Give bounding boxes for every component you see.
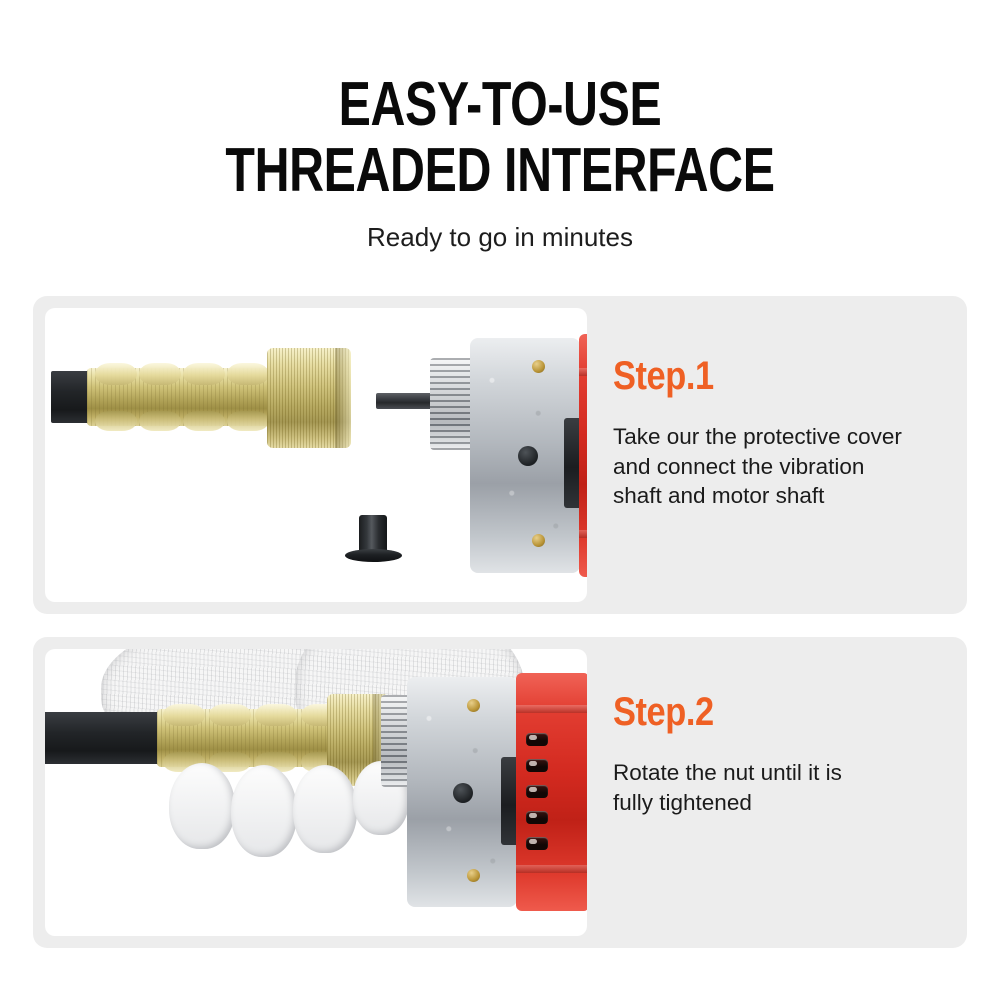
red-plastic-cover [579,334,587,577]
brass-flexible-shaft [157,709,339,767]
shaft-bump [95,363,137,385]
step-1-text-column: Step.1 Take our the protective cover and… [613,356,958,511]
step-1-body: Take our the protective cover and connec… [613,422,958,511]
step-2-body: Rotate the nut until it is fully tighten… [613,758,958,817]
headline-line-1: EASY-TO-USE [110,74,890,136]
shaft-bump [183,363,225,385]
step-2-illustration [45,649,587,936]
housing-port-icon [518,446,538,466]
red-cover-band [516,865,587,873]
vent-slot [526,785,548,798]
black-rubber-hose-icon [51,371,91,423]
housing-port-icon [453,783,473,803]
glove-finger [231,765,297,857]
shaft-bump [209,704,251,726]
brass-bolt-icon [467,699,480,712]
red-cover-band [579,368,587,376]
vent-slot [526,811,548,824]
shaft-bump [227,411,269,431]
red-cover-band [579,530,587,538]
step-2-title: Step.2 [613,692,910,732]
red-cover-band [516,705,587,713]
step-card-2: Step.2 Rotate the nut until it is fully … [33,637,967,948]
black-rubber-hose-icon [45,712,161,764]
red-plastic-cover [516,673,587,911]
shaft-bump [227,363,269,385]
glove-finger [293,765,357,853]
brass-bolt-icon [532,534,545,547]
shaft-bump [183,411,225,431]
hex-motor-shaft [376,393,432,409]
step-2-text-column: Step.2 Rotate the nut until it is fully … [613,692,958,817]
brass-coupling-nut [267,348,351,448]
step-1-illustration [45,308,587,602]
shaft-bump [163,704,205,726]
shaft-bump [95,411,137,431]
product-infographic-page: EASY-TO-USE THREADED INTERFACE Ready to … [0,0,1000,1000]
glove-finger [169,763,235,849]
vent-slot [526,759,548,772]
vent-slot [526,837,548,850]
step-1-photo [45,308,587,602]
headline-line-2: THREADED INTERFACE [110,140,890,202]
vent-slot [526,733,548,746]
shaft-bump [139,411,181,431]
brass-flexible-shaft [87,368,274,426]
shaft-bump [255,704,297,726]
protective-cover-flange [345,549,402,562]
nut-face [335,348,351,448]
subtitle: Ready to go in minutes [0,222,1000,253]
brass-bolt-icon [467,869,480,882]
shaft-bump [139,363,181,385]
step-2-photo [45,649,587,936]
brass-bolt-icon [532,360,545,373]
step-1-title: Step.1 [613,356,910,396]
step-card-1: Step.1 Take our the protective cover and… [33,296,967,614]
